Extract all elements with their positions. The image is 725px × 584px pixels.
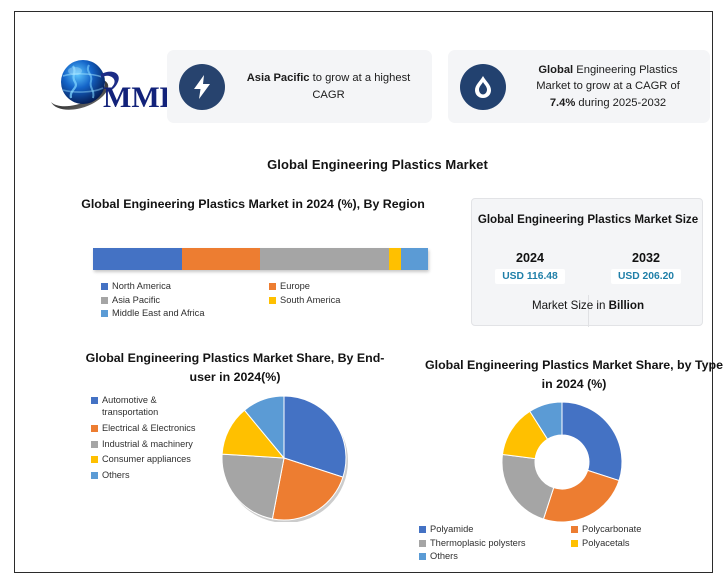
legend-swatch xyxy=(101,283,108,290)
legend-swatch xyxy=(419,553,426,560)
legend-swatch xyxy=(91,425,98,432)
legend-item: Thermoplasic polysters xyxy=(419,537,571,551)
type-chart-legend: PolyamidePolycarbonateThermoplasic polys… xyxy=(419,523,687,564)
region-stacked-bar xyxy=(93,248,428,270)
market-size-value-2032: USD 206.20 xyxy=(611,269,681,284)
legend-label: Industrial & machinery xyxy=(102,438,193,450)
banner-asia-pacific-lead: Asia Pacific xyxy=(247,72,310,84)
legend-swatch xyxy=(419,526,426,533)
region-chart-legend: North AmericaEuropeAsia PacificSouth Ame… xyxy=(101,280,431,321)
donut-slice xyxy=(543,470,619,522)
legend-item: Consumer appliances xyxy=(91,453,201,465)
legend-row: North AmericaEurope xyxy=(101,280,431,294)
market-size-footer-lead: Market Size in xyxy=(532,299,609,312)
legend-label: Consumer appliances xyxy=(102,453,191,465)
legend-swatch xyxy=(91,397,98,404)
legend-row: PolyamidePolycarbonate xyxy=(419,523,687,537)
legend-label: Thermoplasic polysters xyxy=(430,537,526,551)
region-chart-title: Global Engineering Plastics Market in 20… xyxy=(73,195,433,214)
region-bar-segment xyxy=(260,248,389,270)
donut-slice xyxy=(502,454,554,519)
market-size-col-2024: 2024 USD 116.48 xyxy=(472,251,588,284)
legend-swatch xyxy=(91,472,98,479)
type-donut-chart xyxy=(500,400,624,524)
banner-asia-pacific-text: Asia Pacific to grow at a highest CAGR xyxy=(225,70,432,103)
legend-item: South America xyxy=(269,294,340,308)
flame-drop-icon xyxy=(460,64,506,110)
legend-row: Thermoplasic polystersPolyacetals xyxy=(419,537,687,551)
legend-item: Polyamide xyxy=(419,523,571,537)
region-bar-segment xyxy=(182,248,261,270)
legend-label: Automotive & transportation xyxy=(102,394,201,419)
logo-wordmark: MMR xyxy=(103,81,167,114)
enduser-chart-legend: Automotive & transportationElectrical & … xyxy=(91,394,201,484)
legend-label: South America xyxy=(280,294,340,308)
market-size-years: 2024 USD 116.48 2032 USD 206.20 xyxy=(472,251,704,284)
legend-swatch xyxy=(419,540,426,547)
globe-icon xyxy=(51,60,108,110)
market-size-col-2032: 2032 USD 206.20 xyxy=(588,251,704,284)
legend-label: Europe xyxy=(280,280,310,294)
mmr-logo: MMR xyxy=(47,52,167,120)
page-frame: MMR Asia Pacific to grow at a highest CA… xyxy=(14,11,713,573)
enduser-pie-chart xyxy=(220,394,348,522)
lightning-bolt-icon xyxy=(179,64,225,110)
legend-item: Polyacetals xyxy=(571,537,630,551)
legend-label: Asia Pacific xyxy=(112,294,160,308)
region-bar-segment xyxy=(93,248,182,270)
type-chart-title: Global Engineering Plastics Market Share… xyxy=(419,356,725,394)
banner-cagr-line1-lead: Global xyxy=(538,64,573,76)
banner-asia-pacific-rest: to grow at a highest CAGR xyxy=(310,72,411,101)
banner-cagr-text: Global Engineering Plastics Market to gr… xyxy=(506,62,710,112)
legend-item: Industrial & machinery xyxy=(91,438,201,450)
banner-cagr-line1-rest: Engineering Plastics xyxy=(573,64,677,76)
legend-item: Asia Pacific xyxy=(101,294,269,308)
legend-label: Electrical & Electronics xyxy=(102,422,195,434)
legend-swatch xyxy=(91,441,98,448)
market-size-unit: Billion xyxy=(609,299,644,312)
legend-swatch xyxy=(91,456,98,463)
legend-label: Others xyxy=(102,469,130,481)
region-bar-segment xyxy=(389,248,400,270)
legend-swatch xyxy=(101,297,108,304)
donut-slice xyxy=(562,402,622,481)
banner-cagr: Global Engineering Plastics Market to gr… xyxy=(448,50,710,123)
legend-label: Polycarbonate xyxy=(582,523,641,537)
legend-row: Others xyxy=(419,550,687,564)
legend-item: Others xyxy=(91,469,201,481)
legend-label: Middle East and Africa xyxy=(112,307,205,321)
market-size-box: Global Engineering Plastics Market Size … xyxy=(471,198,703,326)
legend-swatch xyxy=(571,540,578,547)
banner-cagr-period: during 2025-2032 xyxy=(575,97,666,109)
banner-asia-pacific: Asia Pacific to grow at a highest CAGR xyxy=(167,50,432,123)
legend-item: Electrical & Electronics xyxy=(91,422,201,434)
legend-swatch xyxy=(269,283,276,290)
banner-cagr-line2: Market to grow at a CAGR of xyxy=(536,80,680,92)
region-bar-segment xyxy=(401,248,428,270)
page-title: Global Engineering Plastics Market xyxy=(15,157,725,172)
legend-item: Middle East and Africa xyxy=(101,307,269,321)
legend-item: Automotive & transportation xyxy=(91,394,201,419)
market-size-title: Global Engineering Plastics Market Size xyxy=(472,211,704,228)
legend-item: North America xyxy=(101,280,269,294)
market-size-year-2024: 2024 xyxy=(472,251,588,265)
legend-row: Middle East and Africa xyxy=(101,307,431,321)
legend-item: Europe xyxy=(269,280,310,294)
infographic-page: MMR Asia Pacific to grow at a highest CA… xyxy=(0,0,725,584)
market-size-footer: Market Size in Billion xyxy=(472,299,704,312)
legend-item: Polycarbonate xyxy=(571,523,641,537)
banner-cagr-rate: 7.4% xyxy=(550,97,576,109)
legend-label: Others xyxy=(430,550,458,564)
legend-label: North America xyxy=(112,280,171,294)
legend-swatch xyxy=(101,310,108,317)
market-size-year-2032: 2032 xyxy=(588,251,704,265)
pie-slice xyxy=(222,454,284,519)
legend-swatch xyxy=(269,297,276,304)
legend-swatch xyxy=(571,526,578,533)
legend-item: Others xyxy=(419,550,571,564)
legend-label: Polyamide xyxy=(430,523,473,537)
market-size-value-2024: USD 116.48 xyxy=(495,269,565,284)
legend-row: Asia PacificSouth America xyxy=(101,294,431,308)
legend-label: Polyacetals xyxy=(582,537,630,551)
enduser-chart-title: Global Engineering Plastics Market Share… xyxy=(77,349,393,387)
